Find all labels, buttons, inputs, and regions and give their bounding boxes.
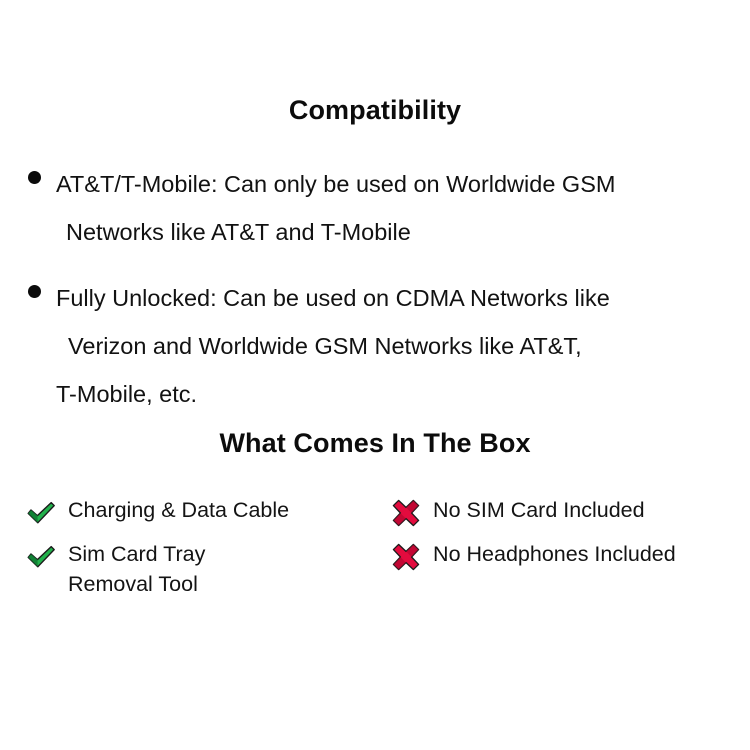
compatibility-bullet-list: AT&T/T-Mobile: Can only be used on World… xyxy=(0,160,750,436)
item-label: No Headphones Included xyxy=(433,539,676,569)
red-cross-icon xyxy=(389,496,423,530)
green-check-icon xyxy=(24,496,58,530)
list-item: Fully Unlocked: Can be used on CDMA Netw… xyxy=(0,274,750,418)
bullet-text-line: AT&T/T-Mobile: Can only be used on World… xyxy=(56,160,750,208)
item-label-line: No SIM Card Included xyxy=(433,495,645,525)
list-item: AT&T/T-Mobile: Can only be used on World… xyxy=(0,160,750,256)
page-title-whats-in-the-box: What Comes In The Box xyxy=(0,428,750,459)
item-label-line: No Headphones Included xyxy=(433,539,676,569)
bullet-text: Fully Unlocked: Can be used on CDMA Netw… xyxy=(56,274,750,418)
included-items-column: Charging & Data Cable Sim Card Tray Remo… xyxy=(0,495,379,608)
green-check-icon xyxy=(24,540,58,574)
bullet-text: AT&T/T-Mobile: Can only be used on World… xyxy=(56,160,750,256)
page-title-compatibility: Compatibility xyxy=(0,95,750,126)
filled-circle-bullet-icon xyxy=(28,285,41,298)
list-item: No SIM Card Included xyxy=(389,495,750,530)
red-cross-icon xyxy=(389,540,423,574)
not-included-items-column: No SIM Card Included No Headphones Inclu… xyxy=(379,495,750,583)
list-item: Charging & Data Cable xyxy=(24,495,379,530)
item-label-line: Removal Tool xyxy=(68,569,205,599)
bullet-text-line: T-Mobile, etc. xyxy=(56,370,750,418)
filled-circle-bullet-icon xyxy=(28,171,41,184)
list-item: No Headphones Included xyxy=(389,539,750,574)
product-info-graphic: Compatibility AT&T/T-Mobile: Can only be… xyxy=(0,0,750,750)
list-item: Sim Card Tray Removal Tool xyxy=(24,539,379,599)
bullet-text-line: Networks like AT&T and T-Mobile xyxy=(56,208,750,256)
bullet-text-line: Verizon and Worldwide GSM Networks like … xyxy=(56,322,750,370)
item-label: No SIM Card Included xyxy=(433,495,645,525)
item-label-line: Charging & Data Cable xyxy=(68,495,289,525)
item-label: Charging & Data Cable xyxy=(68,495,289,525)
box-contents-grid: Charging & Data Cable Sim Card Tray Remo… xyxy=(0,495,750,608)
bullet-text-line: Fully Unlocked: Can be used on CDMA Netw… xyxy=(56,274,750,322)
item-label: Sim Card Tray Removal Tool xyxy=(68,539,205,599)
item-label-line: Sim Card Tray xyxy=(68,539,205,569)
